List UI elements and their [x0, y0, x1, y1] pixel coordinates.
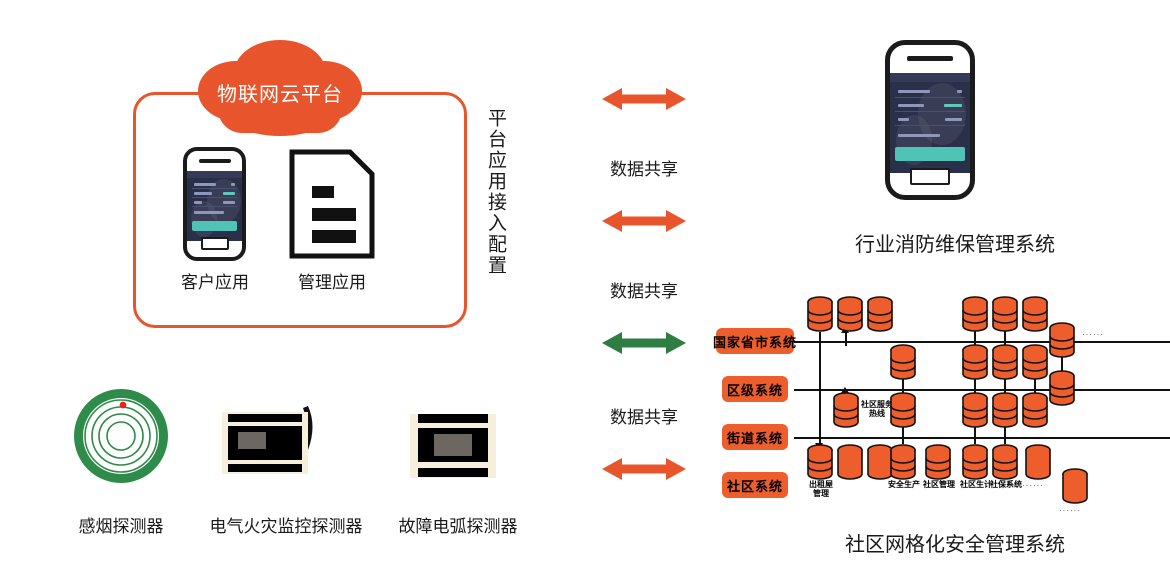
ellipsis-label: ······ — [1082, 330, 1104, 339]
smartphone-icon — [885, 40, 975, 200]
database-node[interactable] — [806, 444, 834, 480]
smartphone-icon — [183, 147, 246, 261]
database-node[interactable] — [836, 444, 864, 480]
community-grid-network-diagram: 国家省市系统 区级系统 街道系统 社区系统 ······ — [716, 296, 1170, 520]
tier-district[interactable]: 区级系统 — [722, 376, 788, 402]
arc-fault-detector-caption: 故障电弧探测器 — [373, 512, 543, 537]
connector-vertical — [845, 332, 847, 346]
bottom-system-title: 社区网格化安全管理系统 — [800, 528, 1110, 557]
data-share-arrow-2 — [602, 208, 686, 234]
node-label-social-security-system: 社保系统 — [985, 480, 1027, 489]
data-share-arrow-4 — [602, 456, 686, 482]
top-system-title: 行业消防维保管理系统 — [800, 228, 1110, 257]
database-node[interactable] — [889, 344, 917, 380]
database-node[interactable] — [991, 392, 1019, 428]
data-share-label-2: 数据共享 — [579, 277, 709, 302]
database-node[interactable] — [961, 444, 989, 480]
tier-line-2 — [794, 389, 1170, 391]
database-node[interactable] — [1061, 468, 1089, 504]
database-node[interactable] — [806, 296, 834, 332]
electrical-fire-detector-icon — [214, 402, 334, 488]
tier-street[interactable]: 街道系统 — [722, 424, 788, 450]
node-label-community-management: 社区管理 — [918, 480, 960, 489]
electrical-fire-detector-caption: 电气火灾监控探测器 — [181, 512, 391, 537]
connector-vertical — [902, 426, 904, 444]
database-node[interactable] — [991, 444, 1019, 480]
data-share-label-3: 数据共享 — [579, 403, 709, 428]
smoke-detector-icon — [66, 386, 176, 486]
database-node[interactable] — [866, 296, 894, 332]
database-node[interactable] — [961, 344, 989, 380]
tier-line-1 — [794, 341, 1170, 343]
connector-vertical — [1004, 426, 1006, 444]
platform-access-config-label: 平台应用接入配置 — [479, 108, 509, 276]
database-node[interactable] — [991, 344, 1019, 380]
database-node[interactable] — [1021, 296, 1049, 332]
tier-community[interactable]: 社区系统 — [722, 472, 788, 498]
database-node[interactable] — [961, 392, 989, 428]
node-label-rental-housing-management: 出租屋管理 — [801, 480, 841, 498]
arc-fault-detector-icon — [400, 406, 506, 486]
document-icon — [288, 148, 376, 260]
data-share-arrow-3 — [602, 330, 686, 356]
tier-national-provincial-city[interactable]: 国家省市系统 — [716, 328, 794, 354]
database-node[interactable] — [836, 296, 864, 332]
database-node[interactable] — [889, 392, 917, 428]
diagram-canvas: 物联网云平台 客户应用 管理应用 平台应用接入配 — [0, 0, 1170, 576]
database-node[interactable] — [1021, 344, 1049, 380]
database-node[interactable] — [961, 296, 989, 332]
database-node[interactable] — [924, 444, 952, 480]
connector-vertical — [974, 426, 976, 444]
connector-vertical — [819, 332, 821, 444]
database-node[interactable] — [991, 296, 1019, 332]
database-node[interactable] — [1048, 370, 1076, 406]
management-app-caption: 管理应用 — [272, 268, 392, 293]
client-app-caption: 客户应用 — [155, 268, 275, 293]
data-share-arrow-1 — [602, 86, 686, 112]
database-node[interactable] — [1021, 392, 1049, 428]
cloud-label: 物联网云平台 — [190, 78, 370, 106]
data-share-label-1: 数据共享 — [579, 155, 709, 180]
ellipsis-label: ······ — [1022, 481, 1044, 490]
tier-line-3 — [794, 437, 1170, 439]
smoke-detector-caption: 感烟探测器 — [51, 512, 191, 537]
database-node[interactable] — [832, 392, 860, 428]
database-node[interactable] — [1024, 444, 1052, 480]
database-node[interactable] — [889, 444, 917, 480]
database-node[interactable] — [1048, 322, 1076, 358]
ellipsis-label: ······ — [1059, 506, 1081, 515]
